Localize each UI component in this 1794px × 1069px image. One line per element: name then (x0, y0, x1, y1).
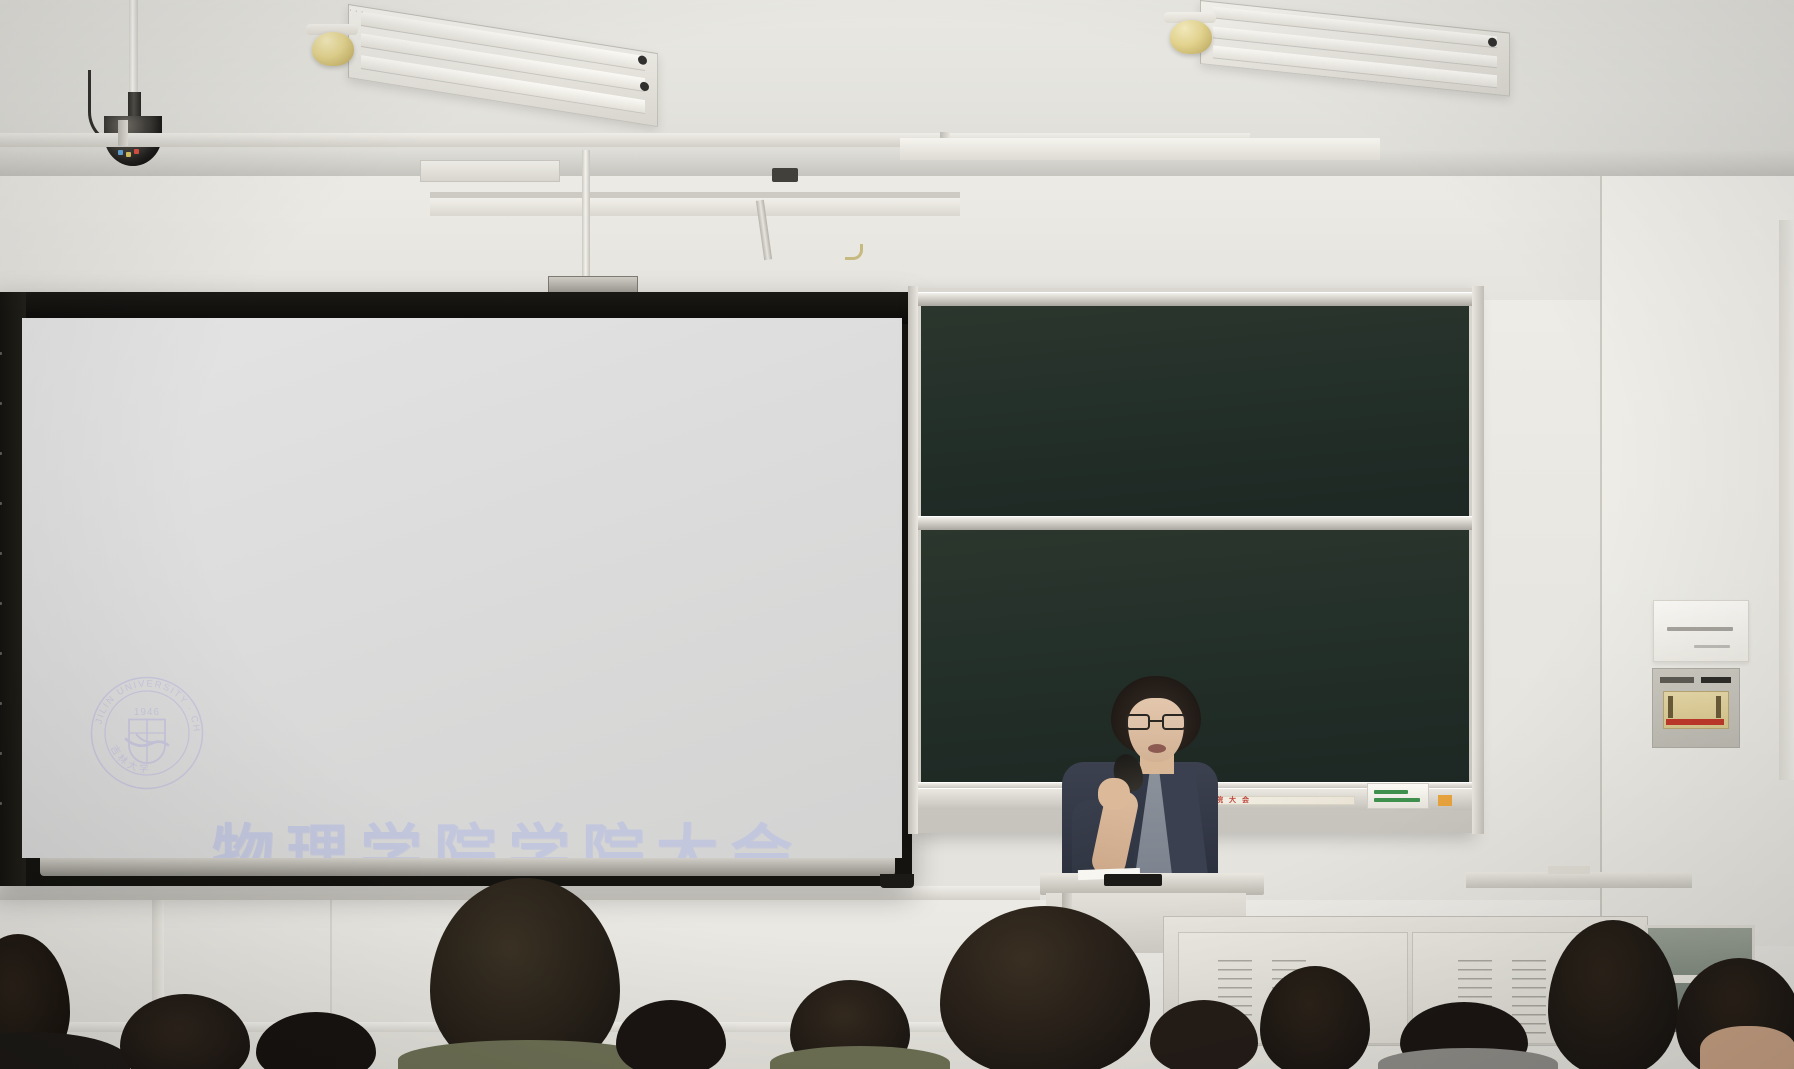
presenter-mouth (1148, 744, 1166, 753)
blackboard-left-edge (908, 286, 918, 834)
chalk-piece[interactable] (1438, 795, 1452, 806)
wall-soffit-right (900, 138, 1380, 160)
ceiling-vent (420, 160, 560, 182)
blackboard: 物理学院大会 (915, 288, 1475, 833)
blackboard-right-edge (1472, 286, 1484, 834)
blackboard-panel-lower (921, 530, 1469, 786)
blackboard-panel-upper (921, 306, 1469, 518)
side-table-object[interactable] (1548, 866, 1590, 874)
wall-soffit (430, 196, 960, 216)
projected-slide: JILIN UNIVERSITY · CHINA 吉林大学 1946 物理学院学… (22, 318, 902, 858)
fixture-label: · · · (349, 5, 364, 16)
rail-bracket-1 (118, 120, 128, 146)
blackboard-rail-top (917, 292, 1473, 306)
chalk-box[interactable] (1367, 783, 1429, 809)
smoke-detector-right (1170, 20, 1212, 54)
list-item (1700, 1026, 1794, 1069)
glasses-icon (1126, 714, 1186, 730)
lectern-remote-control[interactable] (1104, 874, 1162, 886)
presenter-hand (1098, 778, 1130, 810)
projector-mount-rod (582, 150, 590, 278)
blackboard-rail-middle (917, 516, 1473, 530)
wall-sensor-box (772, 168, 798, 182)
projection-screen-roller[interactable] (40, 858, 895, 876)
soffit-edge (430, 192, 960, 198)
projection-screen-pull-tab[interactable] (880, 874, 914, 888)
right-wall-edge-panel (1779, 220, 1794, 780)
paper-notice[interactable] (1653, 600, 1749, 662)
svg-text:1946: 1946 (134, 707, 160, 718)
plaque-bar-left (1668, 696, 1673, 718)
smoke-detector-left (312, 32, 354, 66)
plaque-bar-right (1716, 696, 1721, 718)
lecture-hall-scene: · · · (0, 0, 1794, 1069)
side-table (1466, 872, 1692, 888)
slide-title: 物理学院学院大会 (212, 803, 804, 858)
right-wall-column (1600, 176, 1794, 946)
jilin-university-seal-icon: JILIN UNIVERSITY · CHINA 吉林大学 1946 (62, 673, 232, 793)
plaque-red-band (1666, 719, 1724, 725)
wall-seam-right (1600, 176, 1602, 946)
